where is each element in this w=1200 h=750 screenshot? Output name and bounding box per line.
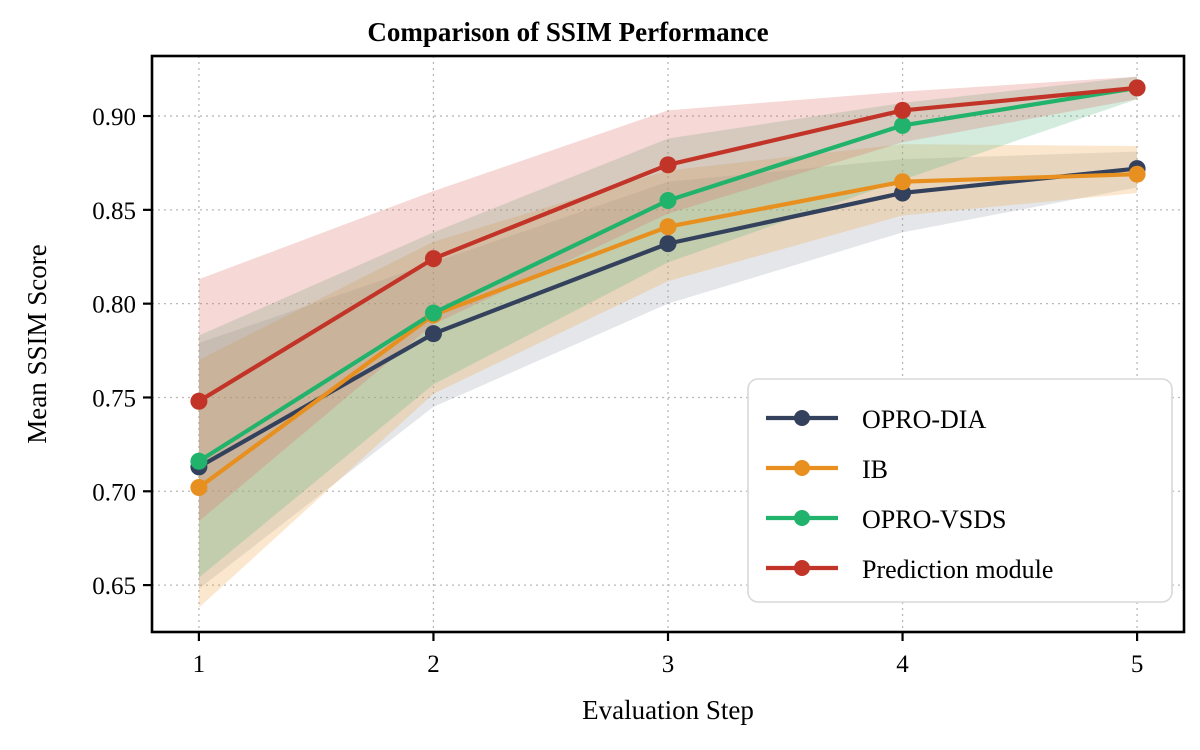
data-point: [190, 393, 207, 410]
x-tick-label: 2: [427, 651, 440, 678]
data-point: [894, 117, 911, 134]
y-tick-label: 0.90: [92, 104, 136, 131]
data-point: [660, 192, 677, 209]
data-point: [660, 218, 677, 235]
legend-swatch-marker-2: [794, 510, 810, 526]
y-tick-label: 0.85: [92, 198, 136, 225]
data-point: [425, 305, 442, 322]
data-point: [894, 173, 911, 190]
y-tick-label: 0.75: [92, 385, 136, 412]
chart-figure: Comparison of SSIM Performance 0.650.700…: [0, 0, 1200, 750]
x-tick-label: 5: [1131, 651, 1144, 678]
y-axis-label: Mean SSIM Score: [22, 244, 52, 443]
data-point: [1129, 79, 1146, 96]
y-tick-label: 0.80: [92, 292, 136, 319]
legend-swatch-marker-3: [794, 560, 810, 576]
y-tick-label: 0.65: [92, 573, 136, 600]
data-point: [894, 102, 911, 119]
legend-label-2[interactable]: OPRO-VSDS: [862, 505, 1007, 534]
data-point: [1129, 166, 1146, 183]
data-point: [425, 325, 442, 342]
data-point: [190, 479, 207, 496]
data-point: [190, 453, 207, 470]
chart-legend[interactable]: OPRO-DIAIBOPRO-VSDSPrediction module: [748, 379, 1172, 602]
legend-swatch-marker-1: [794, 460, 810, 476]
x-tick-label: 1: [193, 651, 206, 678]
chart-title: Comparison of SSIM Performance: [367, 17, 768, 47]
legend-swatch-marker-0: [794, 410, 810, 426]
ssim-line-chart: Comparison of SSIM Performance 0.650.700…: [0, 0, 1200, 750]
y-tick-label: 0.70: [92, 479, 136, 506]
legend-label-1[interactable]: IB: [862, 455, 888, 484]
x-tick-label: 3: [662, 651, 675, 678]
x-tick-label: 4: [896, 651, 909, 678]
data-point: [425, 250, 442, 267]
data-point: [660, 156, 677, 173]
x-axis-label: Evaluation Step: [582, 695, 754, 725]
legend-label-3[interactable]: Prediction module: [862, 555, 1053, 584]
data-point: [660, 235, 677, 252]
legend-label-0[interactable]: OPRO-DIA: [862, 405, 986, 434]
